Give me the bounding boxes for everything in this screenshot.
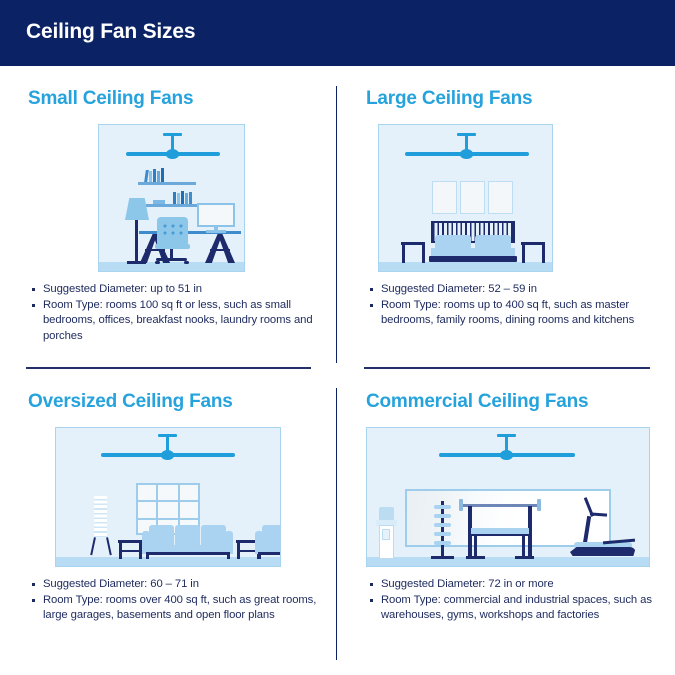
nightstand-left-leg-a xyxy=(402,245,405,263)
chair-caster-left xyxy=(155,261,160,264)
water-cooler-bottle xyxy=(379,507,394,521)
fan-blade-left xyxy=(126,152,170,156)
bench-leg-left xyxy=(474,536,477,558)
bullet-diameter: Suggested Diameter: 52 – 59 in xyxy=(366,282,658,297)
bullet-room-type: Room Type: rooms up to 400 sq ft, such a… xyxy=(366,298,658,328)
armchair-rail xyxy=(258,552,281,555)
illustration-bedroom xyxy=(378,124,553,272)
bench-foot-left xyxy=(466,556,485,559)
book-stack-flat xyxy=(153,200,165,204)
shelf-upper xyxy=(138,182,196,185)
sofa-leg-left xyxy=(146,554,149,559)
floor xyxy=(99,262,244,271)
fan-blade-left xyxy=(439,453,504,457)
lamp-pole xyxy=(135,220,138,263)
armchair-leg-left xyxy=(258,554,261,559)
water-cooler-spout xyxy=(382,529,390,540)
armchair-back xyxy=(262,525,281,547)
lamp-shade xyxy=(94,496,107,538)
bed-base xyxy=(429,256,517,262)
fan-hub xyxy=(500,450,513,460)
section-commercial-ceiling-fans: Commercial Ceiling Fans xyxy=(338,377,675,675)
barbell-plate-left xyxy=(459,499,463,511)
section-oversized-ceiling-fans: Oversized Ceiling Fans xyxy=(0,377,337,675)
barbell-plate-right xyxy=(537,499,541,511)
nightstand-right-leg-a xyxy=(522,245,525,263)
window-mullion-h1 xyxy=(136,500,200,502)
fan-hub xyxy=(166,149,179,159)
book xyxy=(153,169,156,182)
dumbbell-rack-post xyxy=(441,501,444,558)
lamp-shade xyxy=(125,198,149,220)
fan-blade-left xyxy=(405,152,464,156)
wall-art-3 xyxy=(488,181,513,214)
illustration-home-office xyxy=(98,124,245,272)
section-title-commercial: Commercial Ceiling Fans xyxy=(366,391,588,413)
bullet-diameter: Suggested Diameter: 60 – 71 in xyxy=(28,577,320,592)
fan-hub xyxy=(161,450,174,460)
fan-blade-right xyxy=(510,453,575,457)
monitor-base xyxy=(206,230,226,233)
desk-leg-left-crossbar xyxy=(145,249,165,251)
bullets-large: Suggested Diameter: 52 – 59 in Room Type… xyxy=(366,282,658,329)
infographic-page: Ceiling Fan Sizes Small Ceiling Fans xyxy=(0,0,675,675)
bullets-commercial: Suggested Diameter: 72 in or more Room T… xyxy=(366,577,658,624)
illustration-gym xyxy=(366,427,650,567)
window-mullion-h2 xyxy=(136,518,200,520)
fan-blade-right xyxy=(470,152,529,156)
dumbbell-pair-3 xyxy=(434,523,451,527)
lamp-tripod-right xyxy=(99,537,112,556)
desk-leg-right-crossbar xyxy=(210,249,230,251)
book xyxy=(161,168,164,182)
chair-back-dots xyxy=(162,223,183,236)
shelf-lower xyxy=(146,204,204,207)
bench-leg-right xyxy=(522,536,525,558)
book xyxy=(173,192,176,204)
section-title-large: Large Ceiling Fans xyxy=(366,88,532,110)
book xyxy=(149,171,152,182)
floor xyxy=(379,262,552,271)
floor xyxy=(56,557,280,566)
fan-blade-left xyxy=(101,453,165,457)
book xyxy=(157,171,160,182)
sofa-cushion-3 xyxy=(201,525,226,547)
bullets-oversized: Suggested Diameter: 60 – 71 in Room Type… xyxy=(28,577,320,624)
dumbbell-pair-2 xyxy=(434,514,451,518)
dumbbell-pair-5 xyxy=(434,541,451,545)
treadmill-deck-base xyxy=(570,547,636,556)
nightstand-left-leg-b xyxy=(422,245,425,263)
section-small-ceiling-fans: Small Ceiling Fans xyxy=(0,74,337,368)
nightstand-right-leg-b xyxy=(542,245,545,263)
book xyxy=(181,191,184,204)
sofa-cushion-2 xyxy=(175,525,200,547)
section-title-small: Small Ceiling Fans xyxy=(28,88,193,110)
monitor-screen xyxy=(197,203,235,227)
section-large-ceiling-fans: Large Ceiling Fans xyxy=(338,74,675,368)
dumbbell-pair-1 xyxy=(434,505,451,509)
bullet-room-type: Room Type: rooms over 400 sq ft, such as… xyxy=(28,593,320,623)
fan-hub xyxy=(460,149,473,159)
dumbbell-pair-4 xyxy=(434,532,451,536)
bullet-diameter: Suggested Diameter: 72 in or more xyxy=(366,577,658,592)
book xyxy=(185,193,188,204)
side-table-left-shelf xyxy=(119,550,142,552)
fan-blade-right xyxy=(176,152,220,156)
sofa-leg-right xyxy=(227,554,230,559)
fan-blade-right xyxy=(171,453,235,457)
page-header: Ceiling Fan Sizes xyxy=(0,0,675,66)
chair-caster-right xyxy=(184,261,189,264)
section-title-oversized: Oversized Ceiling Fans xyxy=(28,391,233,413)
bullet-room-type: Room Type: rooms 100 sq ft or less, such… xyxy=(28,298,320,344)
sofa-rail xyxy=(146,552,230,555)
book xyxy=(189,192,192,204)
dumbbell-rack-base xyxy=(431,556,454,559)
chair-base xyxy=(156,258,187,261)
book xyxy=(144,170,148,182)
bench-pad xyxy=(471,528,529,536)
bench-foot-right xyxy=(515,556,534,559)
book xyxy=(177,193,180,204)
wall-art-2 xyxy=(460,181,485,214)
floor xyxy=(367,557,649,566)
bullet-room-type: Room Type: commercial and industrial spa… xyxy=(366,593,658,623)
page-title: Ceiling Fan Sizes xyxy=(26,20,195,44)
illustration-living-room xyxy=(55,427,281,567)
bullets-small: Suggested Diameter: up to 51 in Room Typ… xyxy=(28,282,320,344)
bullet-diameter: Suggested Diameter: up to 51 in xyxy=(28,282,320,297)
wall-art-1 xyxy=(432,181,457,214)
sofa-cushion-1 xyxy=(149,525,174,547)
